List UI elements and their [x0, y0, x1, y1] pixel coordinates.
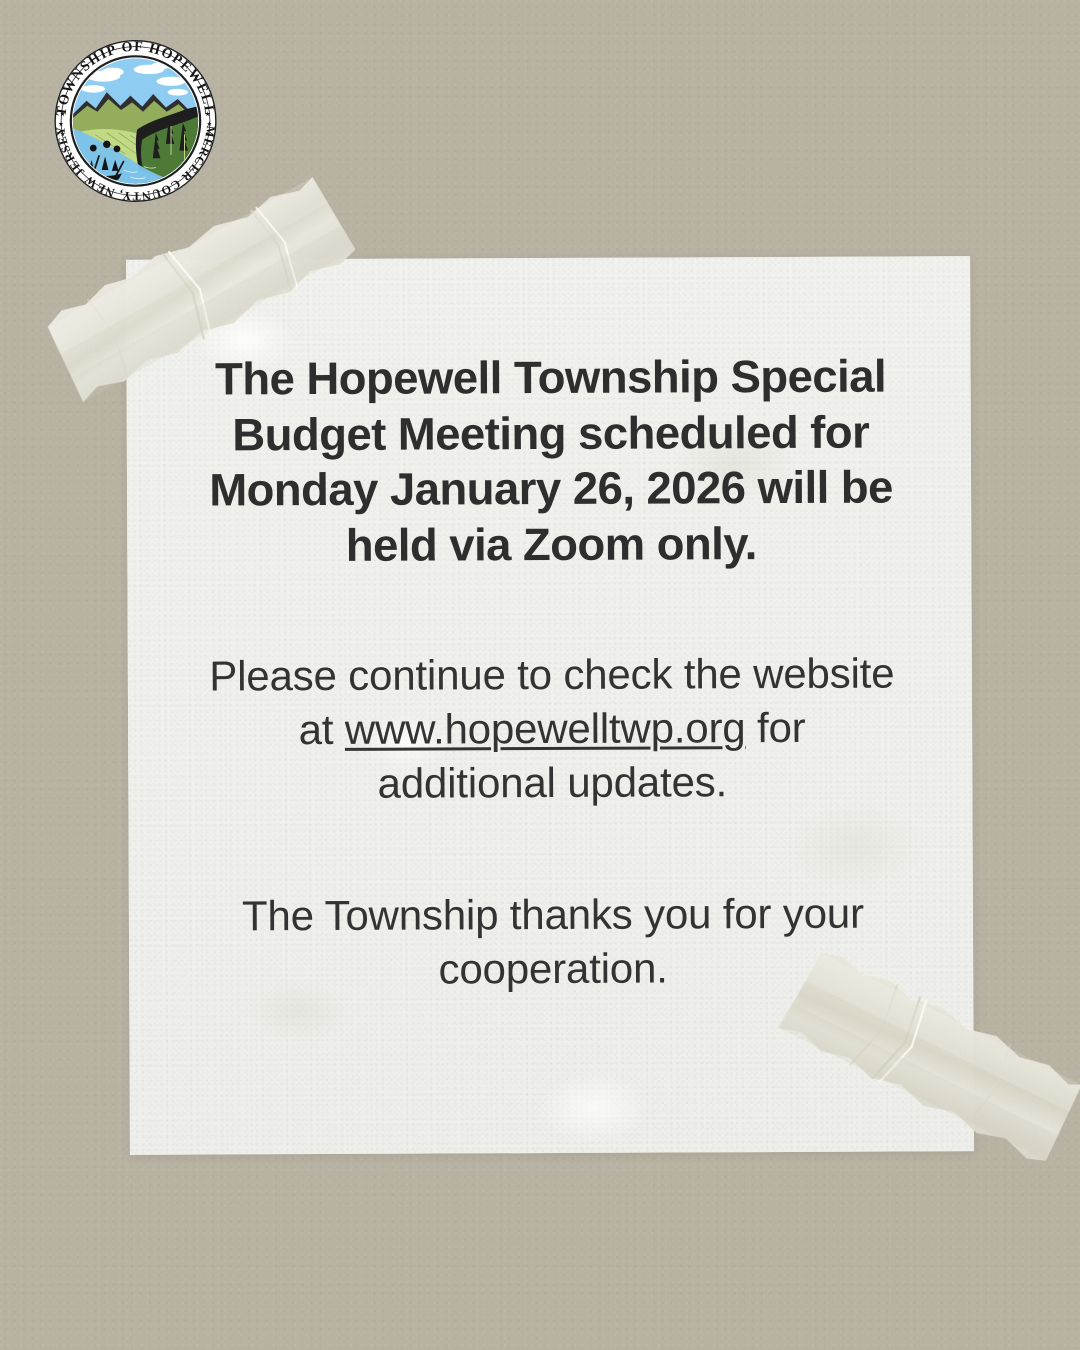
svg-text:★: ★	[58, 121, 64, 128]
svg-text:★: ★	[60, 111, 66, 118]
svg-text:★: ★	[60, 131, 66, 138]
website-paragraph: Please continue to check the website at …	[208, 646, 897, 811]
svg-text:★: ★	[207, 121, 213, 128]
svg-text:★: ★	[205, 131, 211, 138]
washi-tape-bottom-right	[772, 950, 1080, 1185]
poster-canvas: TOWNSHIP OF HOPEWELL MERCER COUNTY, NEW …	[0, 0, 1080, 1350]
notice-text-block: The Hopewell Township Special Budget Mee…	[206, 348, 897, 997]
washi-tape-top-left	[40, 176, 370, 426]
svg-text:★: ★	[205, 111, 211, 118]
website-url-link[interactable]: www.hopewelltwp.org	[345, 704, 746, 753]
